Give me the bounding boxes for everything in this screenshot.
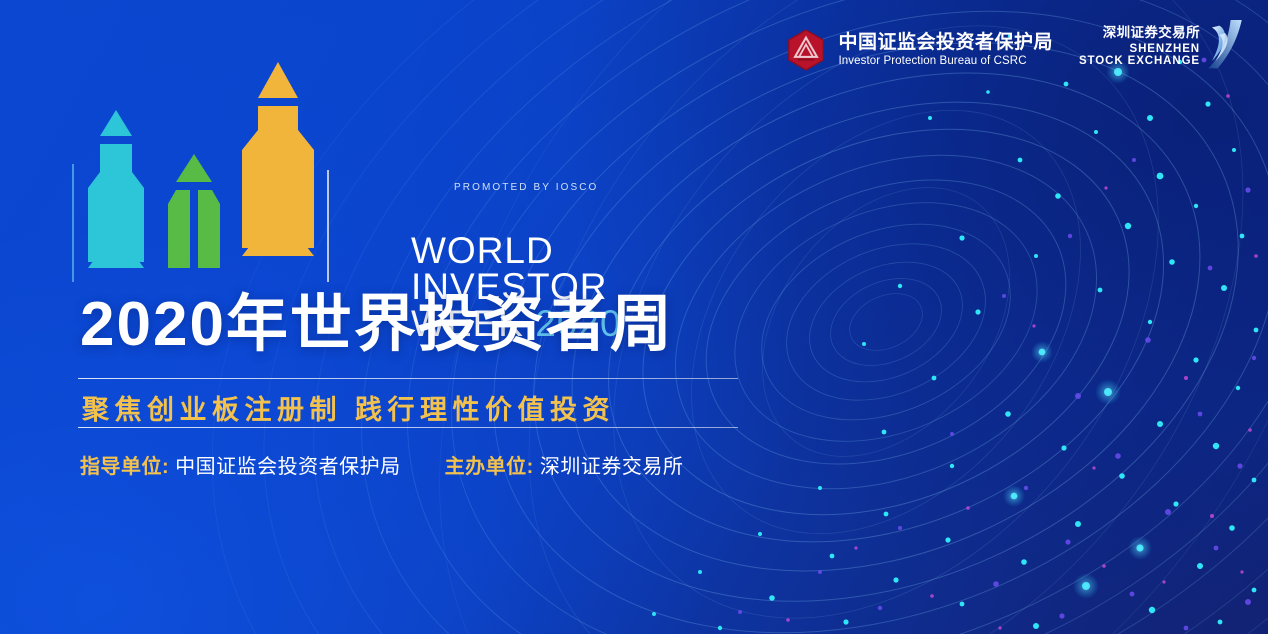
pencil-cyan xyxy=(88,110,144,268)
organizer-1-label: 主办单位: xyxy=(445,450,534,479)
subtitle-rule-top xyxy=(78,378,738,379)
csrc-name-en: Investor Protection Bureau of CSRC xyxy=(838,56,1053,68)
pencil-orange xyxy=(242,62,314,256)
promoted-by-label: PROMOTED BY IOSCO xyxy=(454,182,598,193)
szse-swoosh-mark xyxy=(1206,20,1244,74)
organizer-0-label: 指导单位: xyxy=(80,450,169,479)
subtitle: 聚焦创业板注册制 践行理性价值投资 xyxy=(82,388,615,427)
szse-name-en-line1: SHENZHEN xyxy=(1130,43,1200,55)
left-rule xyxy=(72,164,74,282)
investor-week-poster: 中国证监会投资者保护局 Investor Protection Bureau o… xyxy=(0,0,1268,634)
szse-name-cn: 深圳证券交易所 xyxy=(1103,26,1200,40)
subtitle-rule-bottom xyxy=(78,427,738,428)
csrc-logo: 中国证监会投资者保护局 Investor Protection Bureau o… xyxy=(784,28,1053,72)
csrc-hexagon-mark xyxy=(784,28,828,72)
top-logo-bar: 中国证监会投资者保护局 Investor Protection Bureau o… xyxy=(784,26,1244,74)
wiw-line-world: WORLD xyxy=(411,233,622,269)
pencil-green xyxy=(168,154,220,268)
swirl-particles xyxy=(652,26,1258,630)
organizer-0-value: 中国证监会投资者保护局 xyxy=(175,450,401,479)
szse-name-en-line2: STOCK EXCHANGE xyxy=(1079,55,1200,67)
csrc-name-cn: 中国证监会投资者保护局 xyxy=(838,33,1053,52)
organizer-1-value: 深圳证券交易所 xyxy=(540,450,684,479)
page-title: 2020年世界投资者周 xyxy=(80,294,674,356)
organizer-line: 指导单位: 中国证监会投资者保护局 主办单位: 深圳证券交易所 xyxy=(80,450,683,479)
world-investor-week-logo: PROMOTED BY IOSCO WORLD INVESTOR WEEK 20… xyxy=(70,52,540,294)
wordmark-divider xyxy=(327,170,329,282)
szse-logo: 深圳证券交易所 SHENZHEN STOCK EXCHANGE xyxy=(1079,26,1244,74)
